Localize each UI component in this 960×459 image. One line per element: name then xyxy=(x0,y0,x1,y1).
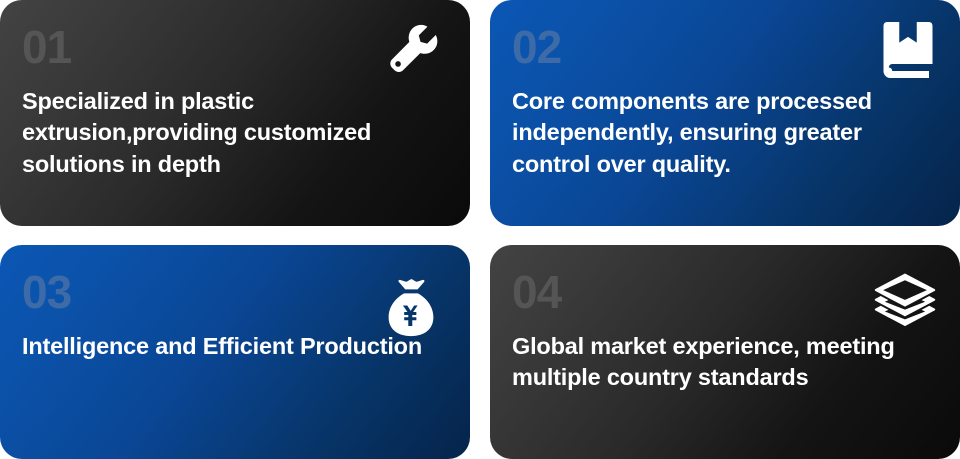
card-number-01: 01 xyxy=(22,24,444,70)
card-number-02: 02 xyxy=(512,24,934,70)
book-bookmark-icon xyxy=(882,22,934,78)
feature-card-01[interactable]: 01 Specialized in plastic extrusion,prov… xyxy=(0,0,470,226)
card-text-03: Intelligence and Efficient Production xyxy=(22,331,444,362)
feature-card-04[interactable]: 04 Global market experience, meeting mul… xyxy=(490,245,960,459)
money-bag-yen-icon xyxy=(382,279,440,337)
card-text-02: Core components are processed independen… xyxy=(512,86,934,180)
card-text-04: Global market experience, meeting multip… xyxy=(512,331,932,394)
card-number-04: 04 xyxy=(512,269,934,315)
feature-card-02[interactable]: 02 Core components are processed indepen… xyxy=(490,0,960,226)
layers-stack-icon xyxy=(874,273,936,329)
wrench-icon xyxy=(384,20,442,78)
card-text-01: Specialized in plastic extrusion,providi… xyxy=(22,86,442,180)
card-number-03: 03 xyxy=(22,269,444,315)
feature-card-grid: 01 Specialized in plastic extrusion,prov… xyxy=(0,0,960,459)
feature-card-03[interactable]: 03 Intelligence and Efficient Production xyxy=(0,245,470,459)
